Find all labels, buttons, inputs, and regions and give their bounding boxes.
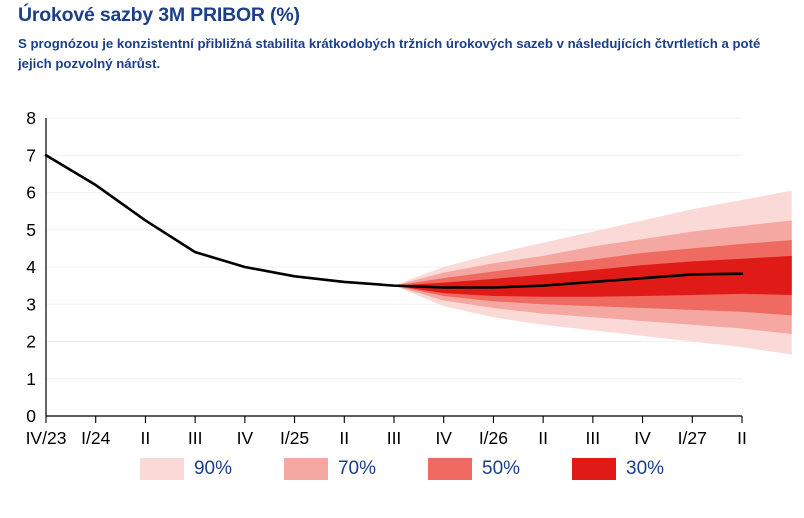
x-tick-label: I/24 xyxy=(81,428,110,448)
legend-item-50: 50% xyxy=(428,458,520,480)
legend-swatch-90 xyxy=(140,458,184,480)
y-tick-label: 7 xyxy=(26,145,36,165)
legend-label-30: 30% xyxy=(626,458,664,480)
x-tick-label: IV xyxy=(237,428,254,448)
x-tick-label: III xyxy=(387,428,402,448)
x-tick-label: III xyxy=(586,428,601,448)
x-tick-label: II xyxy=(141,428,151,448)
x-tick-label: II xyxy=(538,428,548,448)
x-tick-label: I/26 xyxy=(479,428,508,448)
x-tick-label: I/25 xyxy=(280,428,309,448)
legend-item-70: 70% xyxy=(284,458,376,480)
legend-item-90: 90% xyxy=(140,458,232,480)
pribor-fanchart: 012345678IV/23I/24IIIIIIVI/25IIIIIIVI/26… xyxy=(0,104,804,464)
chart-page: Úrokové sazby 3M PRIBOR (%) S prognózou … xyxy=(0,0,804,518)
legend-swatch-30 xyxy=(572,458,616,480)
legend-label-70: 70% xyxy=(338,458,376,480)
x-tick-label: IV/23 xyxy=(26,428,67,448)
x-tick-label: II xyxy=(339,428,349,448)
y-tick-label: 3 xyxy=(26,294,36,314)
x-tick-label: III xyxy=(188,428,203,448)
y-tick-label: 4 xyxy=(26,257,36,277)
y-tick-label: 2 xyxy=(26,332,36,352)
legend-label-90: 90% xyxy=(194,458,232,480)
y-tick-label: 6 xyxy=(26,183,36,203)
y-tick-label: 5 xyxy=(26,220,36,240)
legend-label-50: 50% xyxy=(482,458,520,480)
legend-item-30: 30% xyxy=(572,458,664,480)
legend-swatch-50 xyxy=(428,458,472,480)
page-title: Úrokové sazby 3M PRIBOR (%) xyxy=(18,4,300,27)
y-tick-label: 8 xyxy=(26,108,36,128)
y-tick-label: 1 xyxy=(26,369,36,389)
legend-swatch-70 xyxy=(284,458,328,480)
chart-subtitle: S prognózou je konzistentní přibližná st… xyxy=(18,34,770,75)
x-tick-label: II xyxy=(737,428,747,448)
x-tick-label: IV xyxy=(634,428,651,448)
x-tick-label: IV xyxy=(435,428,452,448)
y-tick-label: 0 xyxy=(26,406,36,426)
chart-legend: 90% 70% 50% 30% xyxy=(0,458,804,514)
x-tick-label: I/27 xyxy=(678,428,707,448)
chart-plot-area: 012345678IV/23I/24IIIIIIVI/25IIIIIIVI/26… xyxy=(0,104,804,464)
